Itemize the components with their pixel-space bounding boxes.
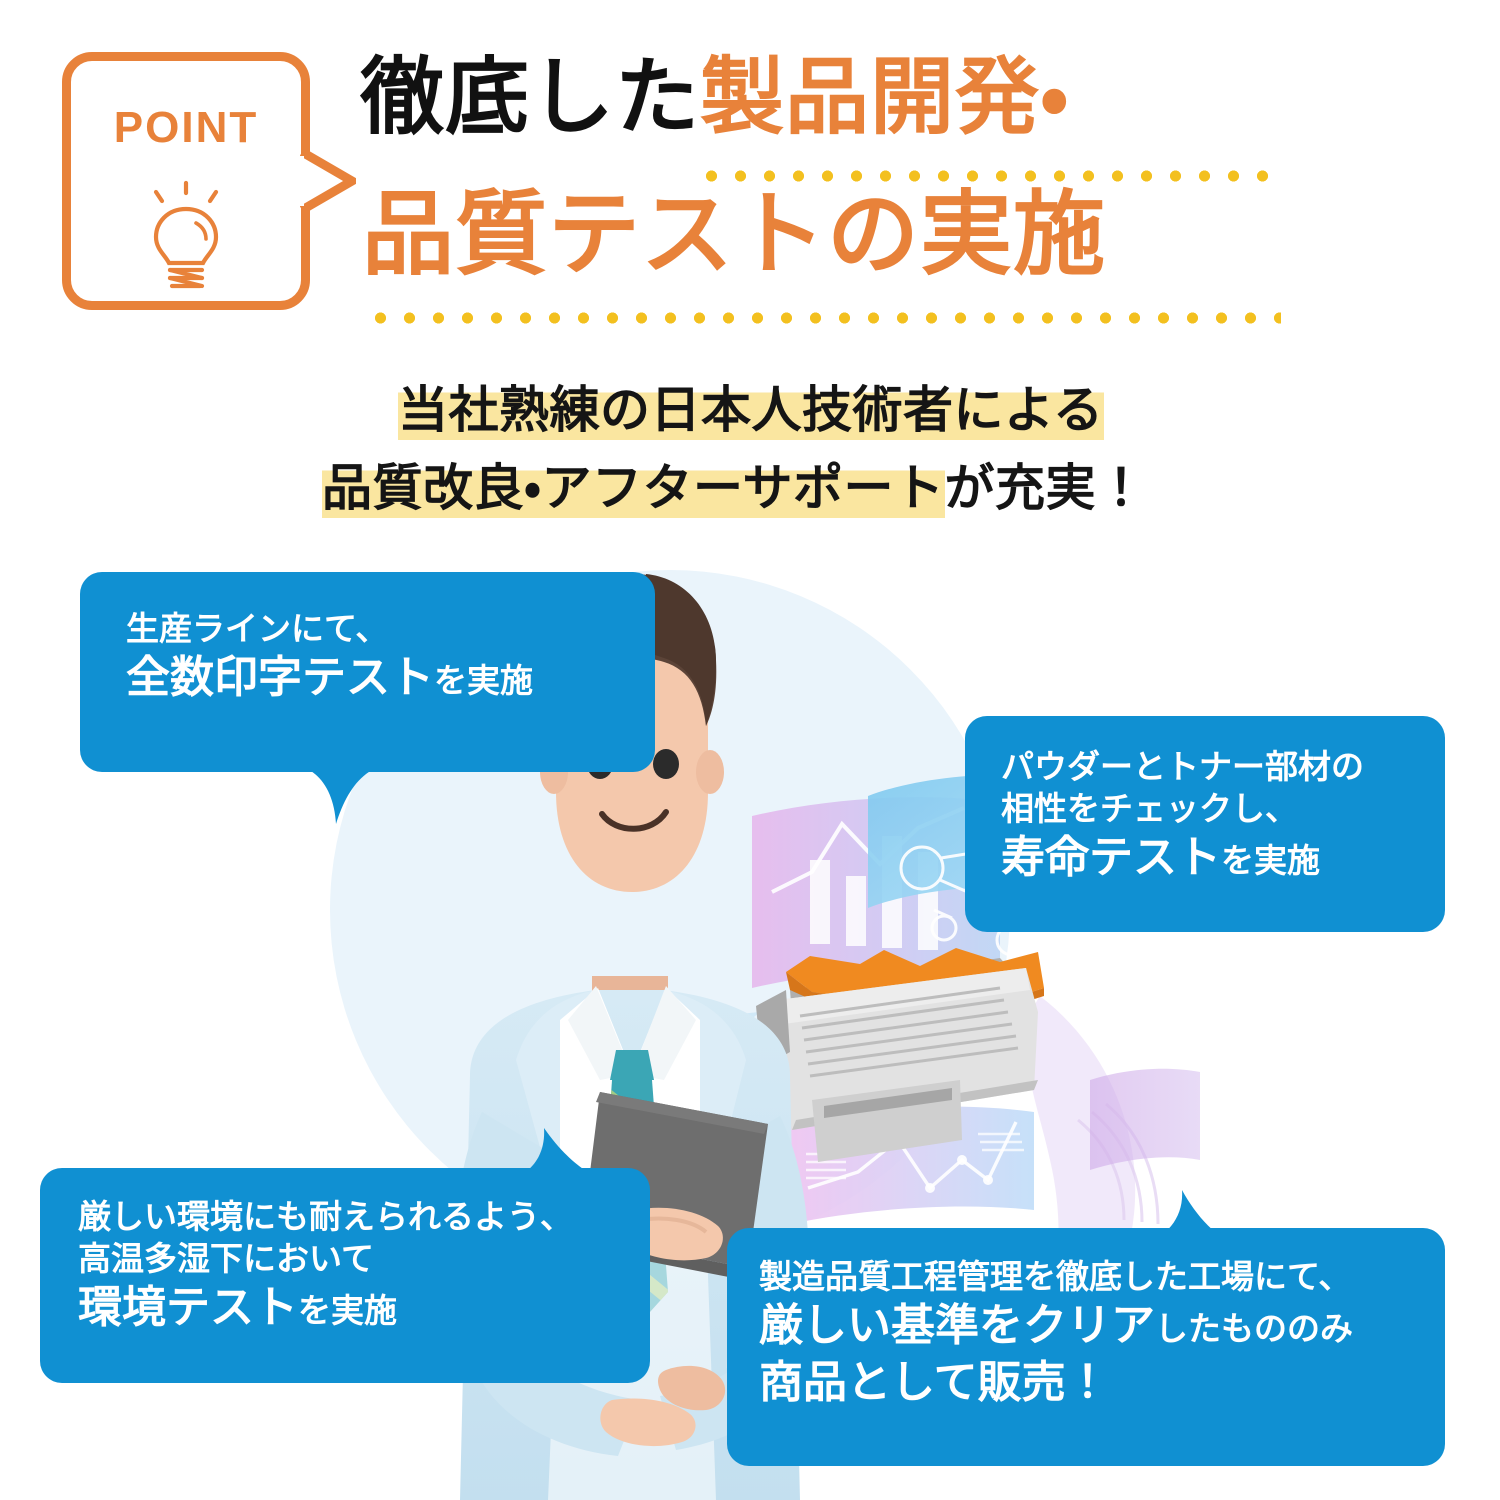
bubble-factory: 製造品質工程管理を徹底した工場にて、 厳しい基準をクリアしたもののみ 商品として…: [727, 1228, 1445, 1466]
subtitle-line1-text: 当社熟練の日本人技術者による: [398, 382, 1104, 440]
dotted-underline-2: [366, 311, 1281, 325]
subtitle-line2-highlight: 品質改良・アフターサポート: [322, 460, 945, 518]
dotted-underline-1: [697, 169, 1275, 183]
bubble-factory-line2: 厳しい基準をクリアしたもののみ: [759, 1298, 1445, 1354]
bubble-env-line3: 環境テストを実施: [78, 1280, 650, 1336]
bubble-print-line2-bold: 全数印字テスト: [126, 653, 434, 702]
lightbulb-icon: [136, 179, 236, 294]
bubble-life-line3-bold: 寿命テスト: [1001, 833, 1221, 882]
headline-line1-orange: 製品開発・: [700, 50, 1070, 144]
bubble-env-line2: 高温多湿下において: [78, 1238, 650, 1280]
bubble-life-line1: パウダーとトナー部材の: [1001, 746, 1445, 788]
subtitle-line-1: 当社熟練の日本人技術者による: [398, 370, 1104, 442]
bubble-env-test: 厳しい環境にも耐えられるよう、 高温多湿下において 環境テストを実施: [40, 1168, 650, 1383]
bubble-life-test: パウダーとトナー部材の 相性をチェックし、 寿命テストを実施: [965, 716, 1445, 932]
infographic-page: POINT 徹底した製品開発・ 品質テストの実施 当社熟練の日本人技術者による …: [0, 0, 1500, 1500]
bubble-factory-line2-tail: したもののみ: [1155, 1310, 1353, 1347]
bubble-print-line1: 生産ラインにて、: [126, 608, 655, 650]
bubble-factory-line1: 製造品質工程管理を徹底した工場にて、: [759, 1256, 1445, 1298]
bubble-factory-line2-bold: 厳しい基準をクリア: [759, 1301, 1155, 1350]
subtitle-line2-tail: が充実！: [945, 460, 1147, 516]
headline-line1-black: 徹底した: [360, 50, 700, 144]
headline-line-1: 徹底した製品開発・: [360, 52, 1070, 143]
bubble-print-test: 生産ラインにて、 全数印字テストを実施: [80, 572, 655, 772]
bubble-life-line3-tail: を実施: [1221, 842, 1320, 879]
point-badge: POINT: [62, 52, 310, 310]
bubble-env-line3-tail: を実施: [298, 1292, 397, 1329]
point-badge-tail: [300, 150, 356, 212]
bubble-env-line3-bold: 環境テスト: [78, 1283, 298, 1332]
bubble-factory-line3: 商品として販売！: [759, 1355, 1445, 1411]
bubble-env-line1: 厳しい環境にも耐えられるよう、: [78, 1196, 650, 1238]
subtitle-line-2: 品質改良・アフターサポートが充実！: [322, 448, 1147, 520]
bubble-life-line3: 寿命テストを実施: [1001, 830, 1445, 886]
headline-line-2: 品質テストの実施: [362, 186, 1106, 285]
point-badge-label: POINT: [71, 103, 301, 153]
bubble-life-line2: 相性をチェックし、: [1001, 788, 1445, 830]
bubble-print-line2-tail: を実施: [434, 662, 533, 699]
bubble-factory-line3-bold: 商品として販売！: [759, 1358, 1110, 1407]
bubble-print-line2: 全数印字テストを実施: [126, 650, 655, 706]
